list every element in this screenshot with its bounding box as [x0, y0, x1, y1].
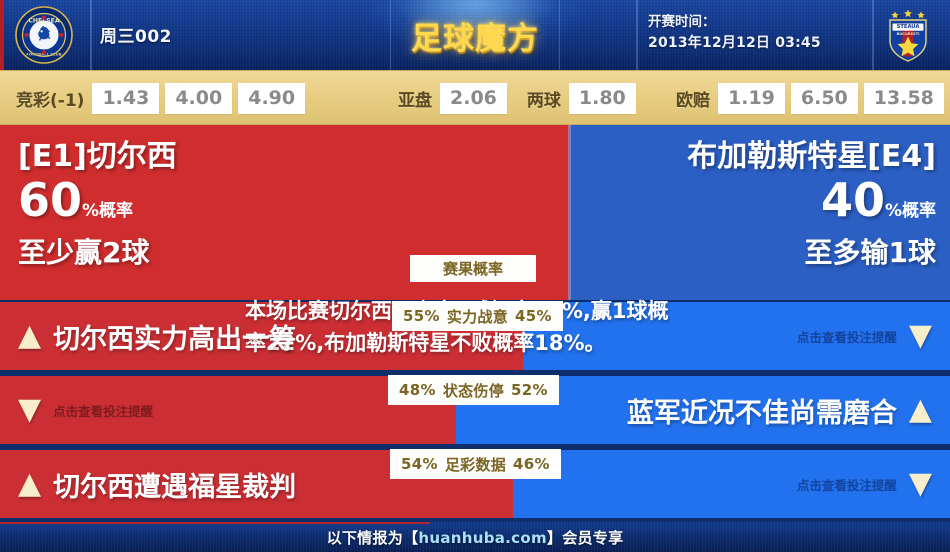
- footer-suffix: 】会员专享: [547, 529, 624, 547]
- row-right-percent: 45%: [515, 307, 552, 325]
- result-probability-title: 赛果概率: [410, 255, 536, 282]
- row-right-percent: 52%: [511, 381, 548, 399]
- row-metric-chip: 54% 足彩数据 46%: [390, 449, 561, 479]
- match-header: CHELSEA FOOTBALL CLUB 周三002 足球魔方 开赛时间： 2…: [0, 0, 950, 70]
- arrow-up-icon: ▲: [18, 321, 41, 351]
- odds-group-asian-handicap: 亚盘 2.06 两球 1.80: [398, 71, 636, 126]
- footer-site-name[interactable]: huanhuba.com: [418, 529, 547, 547]
- odds-group-jingcai: 竞彩(-1) 1.43 4.00 4.90: [16, 71, 305, 126]
- arrow-up-icon: ▲: [909, 395, 932, 425]
- home-team-summary: [E1]切尔西 60%概率 至少赢2球: [18, 139, 258, 270]
- odds-value[interactable]: 13.58: [864, 83, 944, 114]
- kickoff-info: 开赛时间： 2013年12月12日 03:45: [648, 12, 821, 54]
- row-left-percent: 55%: [403, 307, 440, 325]
- row-metric-chip: 55% 实力战意 45%: [392, 301, 563, 331]
- row-left-cta[interactable]: 点击查看投注提醒: [53, 401, 153, 420]
- probability-panel: [E1]切尔西 60%概率 至少赢2球 布加勒斯特星[E4] 40%概率 至多输…: [0, 125, 950, 300]
- row-left-percent: 54%: [401, 455, 438, 473]
- row-left-content[interactable]: ▲ 切尔西实力高出一筹: [18, 302, 296, 370]
- row-left-percent: 48%: [399, 381, 436, 399]
- header-divider-far-right: [872, 0, 874, 70]
- row-right-content[interactable]: 点击查看投注提醒 ▼: [797, 302, 932, 370]
- row-right-content[interactable]: 点击查看投注提醒 ▼: [797, 450, 932, 518]
- svg-text:STEAUA: STEAUA: [897, 24, 920, 30]
- footer-notice: 以下情报为【huanhuba.com】会员专享: [327, 527, 624, 548]
- odds-group-european-odds: 欧赔 1.19 6.50 13.58: [676, 71, 944, 126]
- row-left-headline: 切尔西实力高出一筹: [53, 317, 296, 356]
- away-predicted-result: 至多输1球: [564, 236, 936, 270]
- row-left-content[interactable]: ▼ 点击查看投注提醒: [18, 376, 153, 444]
- odds-group-label: 两球: [527, 86, 561, 111]
- arrow-up-icon: ▲: [18, 469, 41, 499]
- odds-value[interactable]: 1.80: [569, 83, 636, 114]
- row-right-percent: 46%: [513, 455, 550, 473]
- row-right-headline: 蓝军近况不佳尚需磨合: [627, 391, 897, 430]
- home-probability-value: 60: [18, 173, 82, 227]
- member-footer: 以下情报为【huanhuba.com】会员专享: [0, 522, 950, 552]
- odds-bar: 竞彩(-1) 1.43 4.00 4.90 亚盘 2.06 两球 1.80 欧赔…: [0, 70, 950, 125]
- odds-value[interactable]: 1.19: [718, 83, 785, 114]
- odds-value[interactable]: 2.06: [440, 83, 507, 114]
- match-round-label: 周三002: [100, 22, 172, 47]
- row-right-content[interactable]: 蓝军近况不佳尚需磨合 ▲: [627, 376, 932, 444]
- odds-value[interactable]: 6.50: [791, 83, 858, 114]
- header-divider-left: [90, 0, 92, 70]
- brand-logo-title: 足球魔方: [390, 8, 560, 62]
- home-predicted-result: 至少赢2球: [18, 236, 258, 270]
- row-metric-name: 足彩数据: [445, 454, 506, 475]
- row-metric-name: 实力战意: [447, 306, 508, 327]
- odds-value[interactable]: 4.90: [238, 83, 305, 114]
- footer-accent-line: [0, 522, 430, 524]
- home-team-name: [E1]切尔西: [18, 139, 258, 175]
- app-root: CHELSEA FOOTBALL CLUB 周三002 足球魔方 开赛时间： 2…: [0, 0, 950, 552]
- away-team-name: 布加勒斯特星[E4]: [564, 139, 936, 175]
- arrow-down-icon: ▼: [909, 321, 932, 351]
- away-team-summary: 布加勒斯特星[E4] 40%概率 至多输1球: [564, 139, 936, 270]
- kickoff-label: 开赛时间：: [648, 12, 821, 33]
- row-left-content[interactable]: ▲ 切尔西遭遇福星裁判: [18, 450, 296, 518]
- odds-value[interactable]: 1.43: [92, 83, 159, 114]
- away-probability-value: 40: [821, 173, 885, 227]
- kickoff-datetime: 2013年12月12日 03:45: [648, 33, 821, 54]
- comparison-row: ▼ 点击查看投注提醒 蓝军近况不佳尚需磨合 ▲ 48% 状态伤停 52%: [0, 376, 950, 444]
- row-metric-name: 状态伤停: [443, 380, 504, 401]
- arrow-down-icon: ▼: [909, 469, 932, 499]
- steaua-bucuresti-crest-icon: STEAUA BUCURESTI: [878, 5, 938, 65]
- footer-prefix: 以下情报为【: [327, 529, 419, 547]
- comparison-row: ▲ 切尔西遭遇福星裁判 点击查看投注提醒 ▼ 54% 足彩数据 46%: [0, 450, 950, 518]
- odds-value[interactable]: 4.00: [165, 83, 232, 114]
- header-divider-right: [636, 0, 638, 70]
- odds-group-label: 亚盘: [398, 86, 432, 111]
- chelsea-crest-icon: CHELSEA FOOTBALL CLUB: [14, 5, 74, 65]
- away-probability-suffix: %概率: [885, 201, 936, 221]
- arrow-down-icon: ▼: [18, 395, 41, 425]
- row-right-cta[interactable]: 点击查看投注提醒: [797, 475, 897, 494]
- row-metric-chip: 48% 状态伤停 52%: [388, 375, 559, 405]
- odds-group-label: 竞彩(-1): [16, 86, 84, 111]
- odds-group-label: 欧赔: [676, 86, 710, 111]
- row-left-headline: 切尔西遭遇福星裁判: [53, 465, 296, 504]
- header-left-accent: [0, 0, 4, 70]
- home-probability-suffix: %概率: [82, 201, 133, 221]
- svg-text:BUCURESTI: BUCURESTI: [897, 32, 920, 36]
- row-right-cta[interactable]: 点击查看投注提醒: [797, 327, 897, 346]
